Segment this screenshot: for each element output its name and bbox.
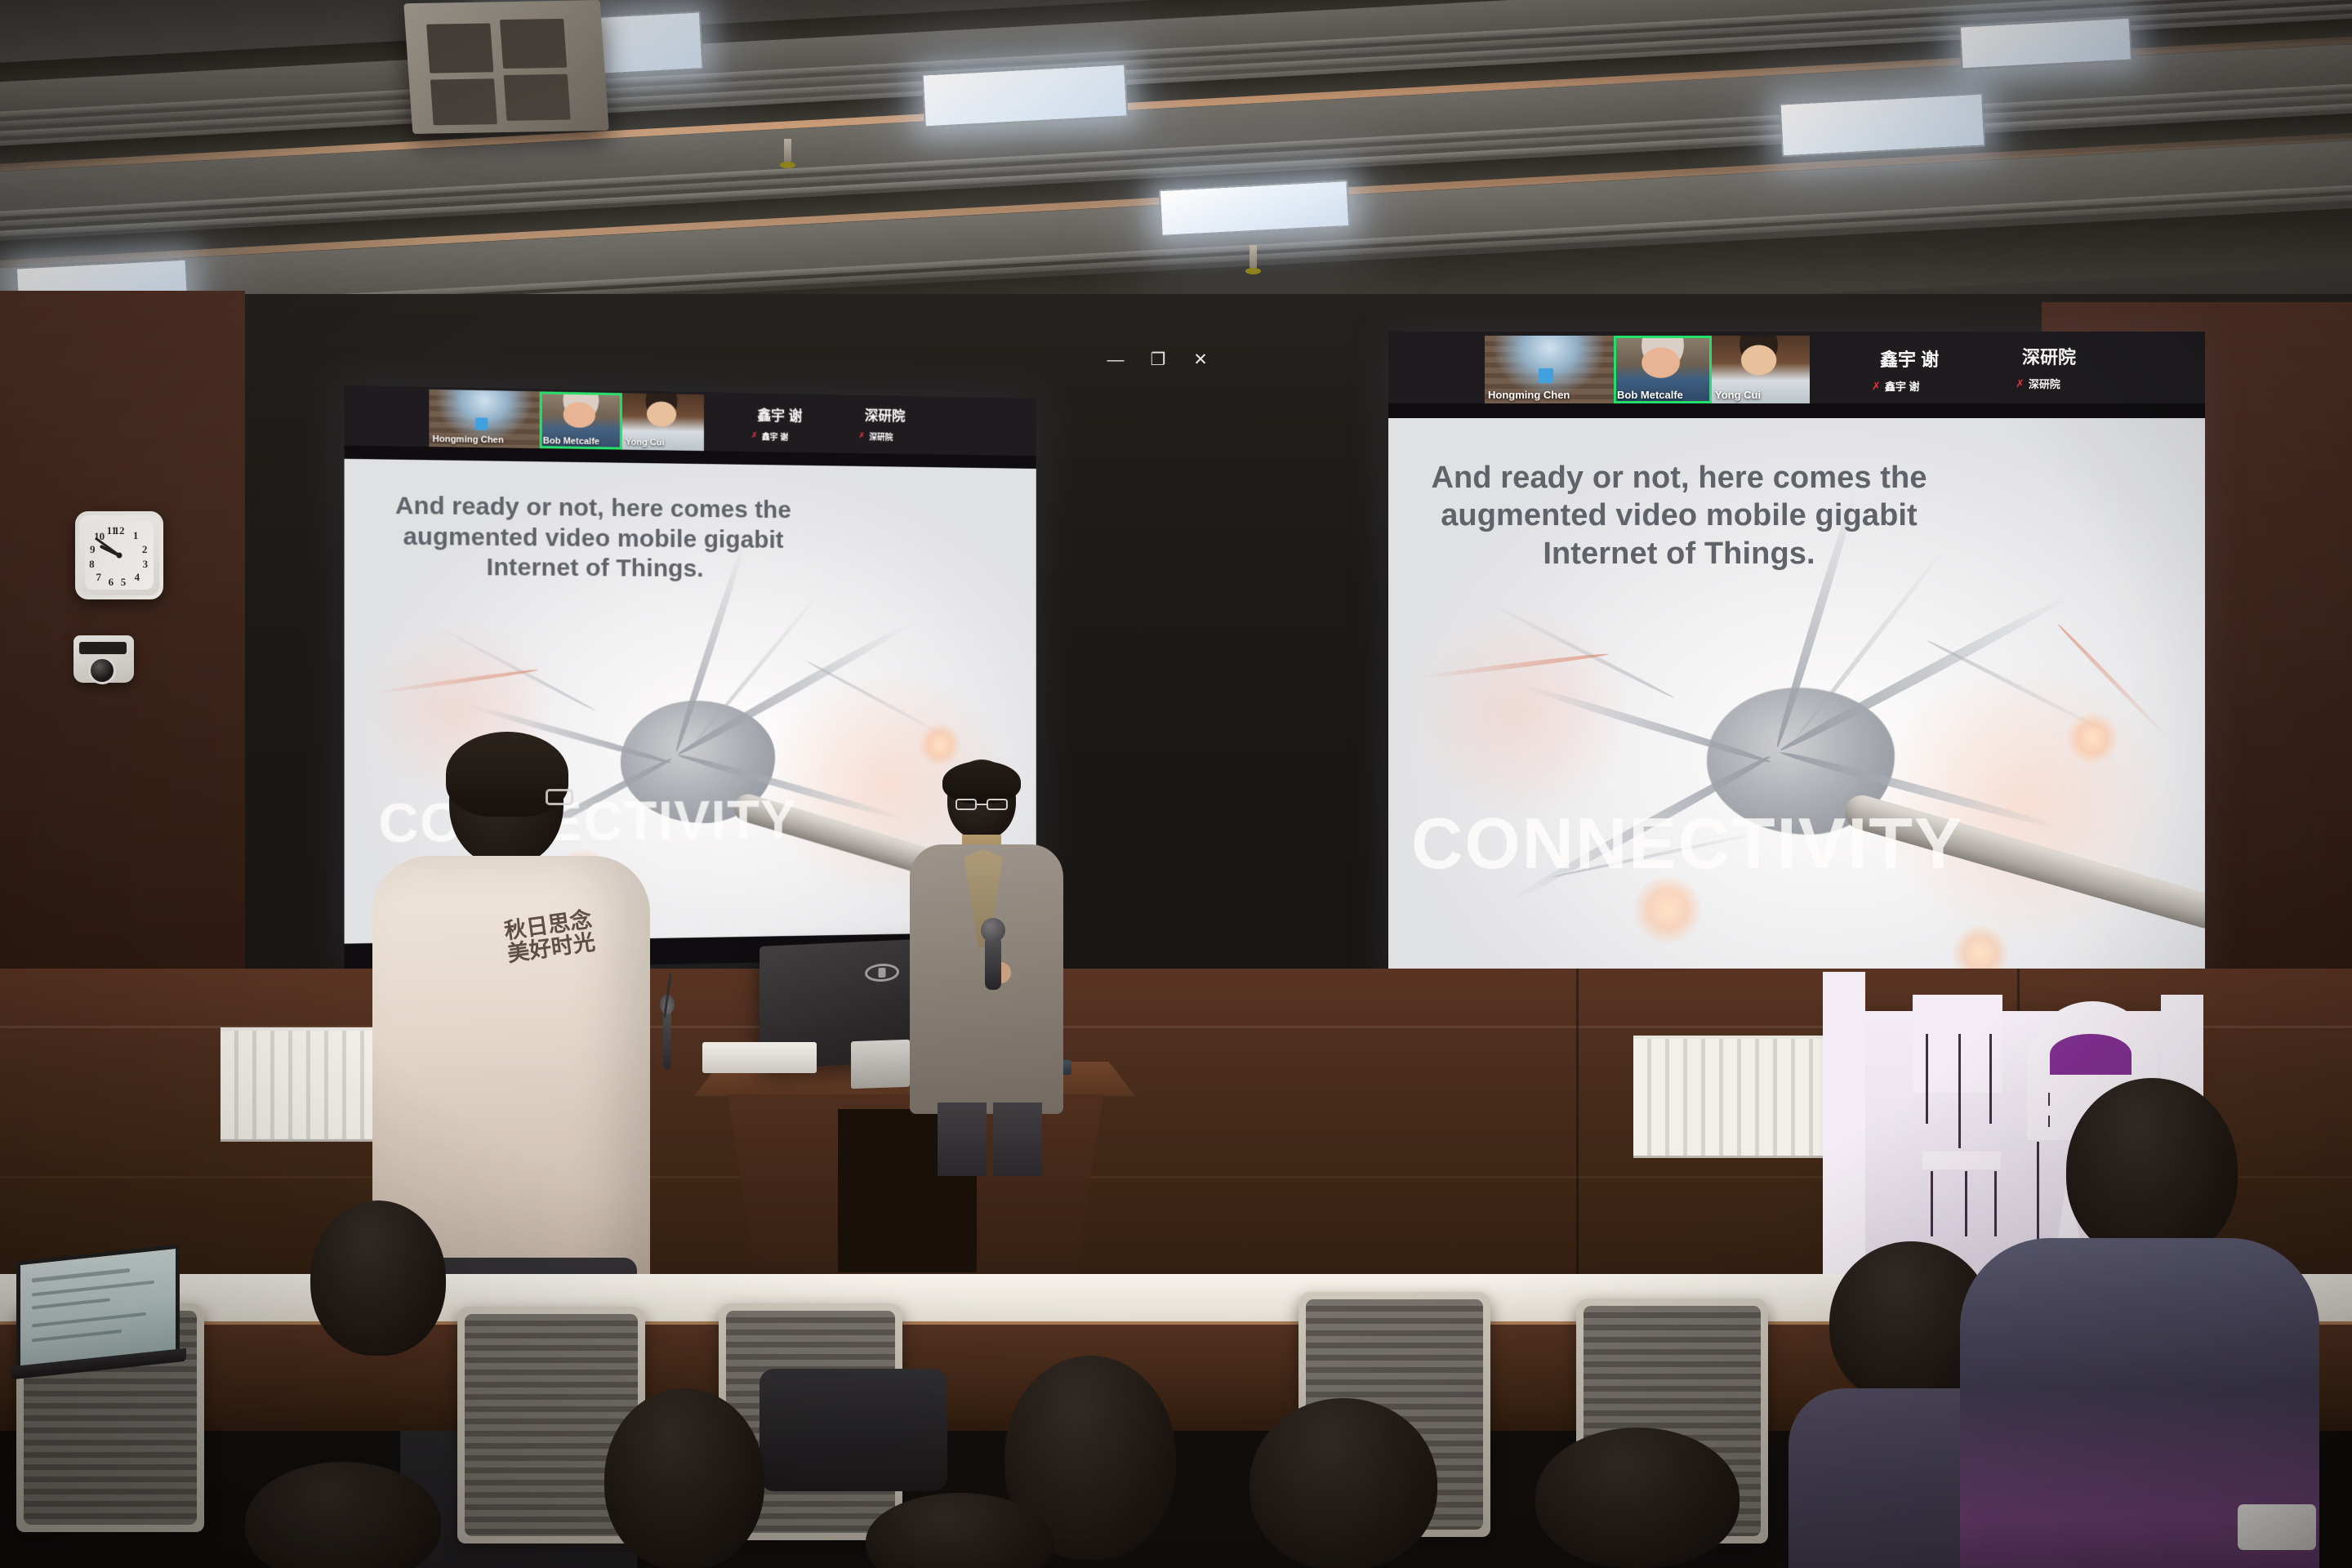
video-conference-strip-left: Hongming Chen Bob Metcalfe Yong Cui 鑫宇 谢… xyxy=(345,385,1036,457)
vc-panel-small-label: 深研院 xyxy=(869,430,893,443)
podium-paper-stack xyxy=(702,1042,817,1073)
ceiling-light-panel xyxy=(1779,93,1985,158)
ceiling xyxy=(0,0,2352,327)
vc-participant-name: Bob Metcalfe xyxy=(1617,389,1683,401)
vc-participant-name: Yong Cui xyxy=(1715,389,1761,401)
slide-line: And ready or not, here comes the xyxy=(1418,459,1940,497)
vc-tile-bob-metcalfe[interactable]: Bob Metcalfe xyxy=(540,391,622,449)
vc-panel-big-label: 深研院 xyxy=(865,404,906,425)
vc-panel-big-label: 深研院 xyxy=(2022,343,2076,369)
slide-text-block: And ready or not, here comes the augment… xyxy=(1418,459,1940,572)
lecture-hall-scene: 12 1 2 3 4 5 6 7 8 9 10 11 Hongming Chen… xyxy=(0,0,2352,1568)
ceiling-projector-unit xyxy=(403,0,608,134)
vc-tile-hongming-chen[interactable]: Hongming Chen xyxy=(1485,336,1614,403)
signage-purple-arch xyxy=(2050,1034,2131,1075)
video-conference-strip-right: Hongming Chen Bob Metcalfe Yong Cui 鑫宇 谢… xyxy=(1388,332,2205,403)
backpack xyxy=(759,1369,947,1491)
vc-tile-hongming-chen[interactable]: Hongming Chen xyxy=(429,390,539,448)
close-button[interactable]: ✕ xyxy=(1192,350,1209,370)
restore-button[interactable]: ❐ xyxy=(1149,350,1167,370)
ceiling-light-panel xyxy=(1159,180,1351,237)
vc-mute-marker: ✗ xyxy=(2016,377,2025,390)
vc-panel-small-label: 深研院 xyxy=(2029,376,2060,391)
presenter-hair xyxy=(942,761,1021,804)
wall-clock: 12 1 2 3 4 5 6 7 8 9 10 11 xyxy=(75,511,163,599)
vc-name-panels: 鑫宇 谢 深研院 ✗ 鑫宇 谢 ✗ 深研院 xyxy=(1810,336,2205,403)
vc-panel-small-label: 鑫宇 谢 xyxy=(1885,378,1920,394)
slide-watermark: CONNECTIVITY xyxy=(1411,802,1963,885)
vc-panel-big-label: 鑫宇 谢 xyxy=(1880,345,1939,372)
window-controls-left-screen[interactable]: — ❐ ✕ xyxy=(1107,350,1209,370)
presenter-glasses xyxy=(955,799,1008,810)
ceiling-light-panel xyxy=(1959,17,2133,70)
slide-line: Internet of Things. xyxy=(378,552,807,586)
security-camera xyxy=(73,635,134,683)
vc-tile-yong-cui[interactable]: Yong Cui xyxy=(622,393,704,451)
vc-participant-name: Hongming Chen xyxy=(433,434,504,446)
vc-participant-name: Yong Cui xyxy=(626,438,665,448)
vc-participant-name: Hongming Chen xyxy=(1488,389,1570,401)
slide-line: Internet of Things. xyxy=(1418,535,1940,572)
slide-text-block: And ready or not, here comes the augment… xyxy=(378,491,807,585)
vc-mute-marker: ✗ xyxy=(751,431,758,440)
presenter-trousers xyxy=(993,1102,1042,1176)
slide-line: augmented video mobile gigabit xyxy=(378,522,807,556)
vc-name-panels: 鑫宇 谢 深研院 ✗ 鑫宇 谢 ✗ 深研院 xyxy=(704,394,1036,456)
presenter-trousers xyxy=(938,1102,987,1176)
slide-watermark: CONNECTIVITY xyxy=(378,788,797,854)
vc-tile-bob-metcalfe[interactable]: Bob Metcalfe xyxy=(1614,336,1712,403)
minimize-button[interactable]: — xyxy=(1107,350,1125,370)
vc-mute-marker: ✗ xyxy=(858,431,865,440)
sprinkler-head xyxy=(784,139,791,163)
presentation-slide-right: And ready or not, here comes the augment… xyxy=(1388,418,2205,985)
smartphone-on-desk[interactable] xyxy=(2238,1504,2316,1550)
slide-line: And ready or not, here comes the xyxy=(378,491,807,526)
vc-tile-yong-cui[interactable]: Yong Cui xyxy=(1712,336,1810,403)
attendee-glasses xyxy=(546,789,573,805)
ceiling-light-panel xyxy=(921,64,1128,128)
handheld-microphone xyxy=(985,936,1001,990)
sprinkler-head xyxy=(1249,245,1257,269)
vc-panel-small-label: 鑫宇 谢 xyxy=(762,430,788,442)
slide-line: augmented video mobile gigabit xyxy=(1418,497,1940,534)
vc-participant-name: Bob Metcalfe xyxy=(543,436,599,447)
vc-mute-marker: ✗ xyxy=(1872,380,1881,393)
vc-panel-big-label: 鑫宇 谢 xyxy=(757,403,802,425)
projection-screen-right: Hongming Chen Bob Metcalfe Yong Cui 鑫宇 谢… xyxy=(1388,332,2205,985)
